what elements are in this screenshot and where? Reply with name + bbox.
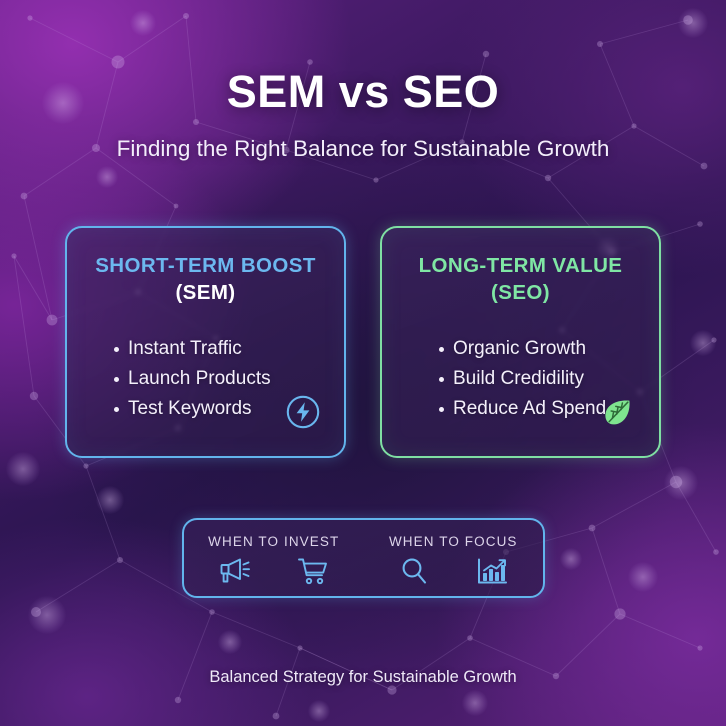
shopping-cart-icon[interactable] bbox=[297, 556, 329, 586]
bokeh-glow bbox=[462, 690, 488, 716]
card-sem-heading: SHORT-TERM BOOST (SEM) bbox=[85, 252, 326, 306]
poster-header: SEM vs SEO Finding the Right Balance for… bbox=[0, 0, 726, 162]
leaf-icon bbox=[600, 394, 636, 430]
bokeh-glow bbox=[560, 548, 582, 570]
bottom-group-when-to-invest: WHEN TO INVEST bbox=[184, 520, 364, 596]
card-sem-heading-line1: SHORT-TERM BOOST bbox=[85, 252, 326, 279]
magnifier-icon[interactable] bbox=[398, 556, 430, 586]
bar-chart-icon[interactable] bbox=[476, 556, 508, 586]
lightning-bolt-icon bbox=[285, 394, 321, 430]
bottom-action-bar: WHEN TO INVEST bbox=[182, 518, 545, 598]
card-seo-heading-line2: (SEO) bbox=[400, 279, 641, 306]
bokeh-glow bbox=[690, 330, 716, 356]
bottom-group-when-to-focus: WHEN TO FOCUS bbox=[364, 520, 544, 596]
bokeh-glow bbox=[308, 700, 330, 722]
card-seo[interactable]: LONG-TERM VALUE (SEO) Organic Growth Bui… bbox=[380, 226, 661, 458]
list-item: Instant Traffic bbox=[114, 336, 344, 363]
footer-tagline: Balanced Strategy for Sustainable Growth bbox=[0, 668, 726, 687]
bokeh-glow bbox=[28, 596, 66, 634]
infographic-poster: SEM vs SEO Finding the Right Balance for… bbox=[0, 0, 726, 726]
bottom-group-focus-icons bbox=[398, 556, 508, 586]
card-sem[interactable]: SHORT-TERM BOOST (SEM) Instant Traffic L… bbox=[65, 226, 346, 458]
card-sem-heading-line2: (SEM) bbox=[85, 279, 326, 306]
bottom-group-invest-icons bbox=[219, 556, 329, 586]
bottom-group-focus-label: WHEN TO FOCUS bbox=[389, 534, 518, 549]
bottom-group-invest-label: WHEN TO INVEST bbox=[208, 534, 339, 549]
comparison-cards: SHORT-TERM BOOST (SEM) Instant Traffic L… bbox=[65, 226, 661, 458]
list-item: Launch Products bbox=[114, 366, 344, 393]
page-subtitle: Finding the Right Balance for Sustainabl… bbox=[0, 118, 726, 162]
bokeh-glow bbox=[6, 452, 40, 486]
bokeh-glow bbox=[628, 562, 658, 592]
bokeh-glow bbox=[96, 166, 118, 188]
page-title: SEM vs SEO bbox=[0, 0, 726, 118]
megaphone-icon[interactable] bbox=[219, 556, 251, 586]
list-item: Organic Growth bbox=[439, 336, 659, 363]
card-seo-heading: LONG-TERM VALUE (SEO) bbox=[400, 252, 641, 306]
bokeh-glow bbox=[96, 486, 124, 514]
list-item: Build Credidility bbox=[439, 366, 659, 393]
bokeh-glow bbox=[218, 630, 242, 654]
card-seo-heading-line1: LONG-TERM VALUE bbox=[400, 252, 641, 279]
bokeh-glow bbox=[664, 466, 698, 500]
